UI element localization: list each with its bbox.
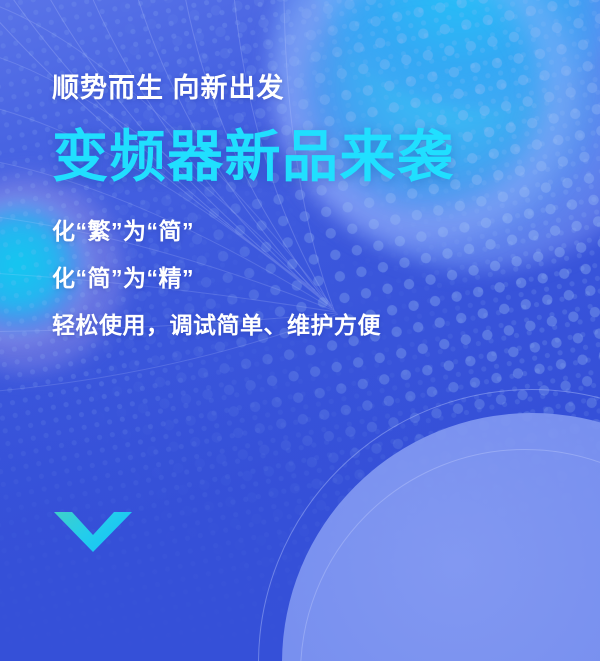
banner-eyebrow: 顺势而生 向新出发 [52,72,572,104]
promo-banner: 顺势而生 向新出发 变频器新品来袭 化“繁”为“简” 化“简”为“精” 轻松使用… [0,0,600,661]
banner-bullet: 轻松使用，调试简单、维护方便 [52,314,572,337]
banner-copy: 顺势而生 向新出发 变频器新品来袭 化“繁”为“简” 化“简”为“精” 轻松使用… [52,0,572,337]
banner-bullet: 化“繁”为“简” [52,220,572,243]
banner-headline: 变频器新品来袭 [52,127,572,187]
chevron-down-icon[interactable] [54,510,132,552]
banner-bullet: 化“简”为“精” [52,267,572,290]
banner-bullet-list: 化“繁”为“简” 化“简”为“精” 轻松使用，调试简单、维护方便 [52,220,572,337]
